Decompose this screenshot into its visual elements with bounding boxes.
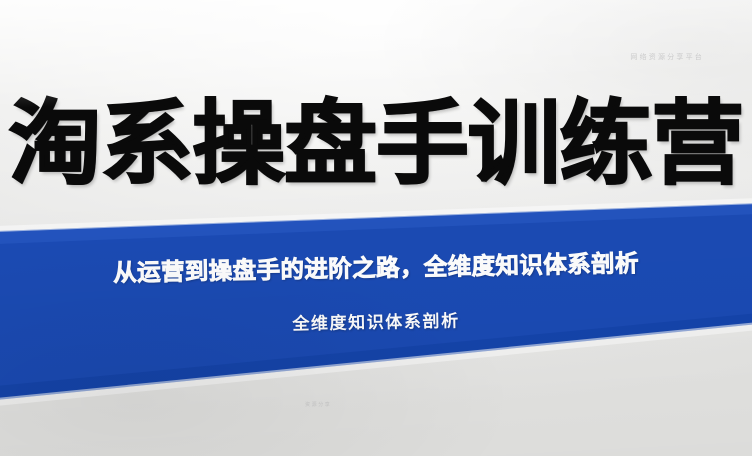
banner-top-glow [0, 198, 752, 232]
banner-highlight-edge [0, 203, 752, 244]
page-title: 淘系操盘手训练营 [0, 99, 752, 190]
promo-poster: 网络资源分享平台 淘系操盘手训练营 从运营到操盘手的进阶之路，全维度知识体系剖析… [0, 0, 752, 456]
banner-tagline: 全维度知识体系剖析 [0, 301, 752, 340]
banner-text-group: 从运营到操盘手的进阶之路，全维度知识体系剖析 全维度知识体系剖析 [0, 0, 752, 456]
watermark-bottom-center: 资源分享 [305, 401, 331, 408]
blue-banner-shape [0, 0, 752, 456]
banner-polygon [0, 203, 752, 400]
banner-bottom-glow [0, 322, 752, 406]
banner-shadow-edge [0, 313, 752, 400]
banner-subtitle: 从运营到操盘手的进阶之路，全维度知识体系剖析 [0, 242, 752, 290]
watermark-top-right: 网络资源分享平台 [630, 52, 704, 62]
